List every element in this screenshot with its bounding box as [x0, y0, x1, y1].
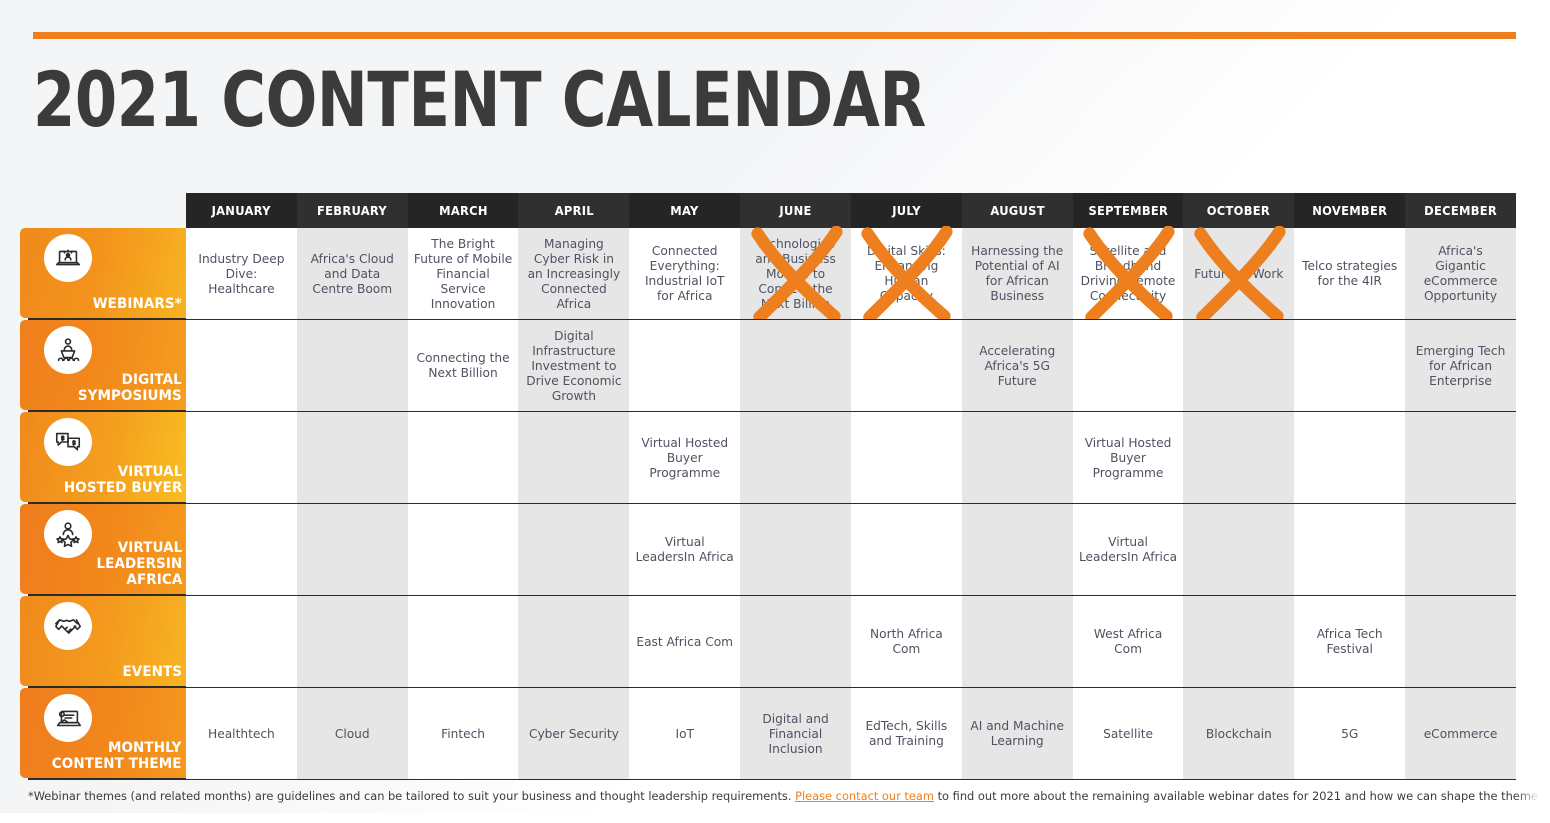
cell-text: Cyber Security — [529, 727, 619, 742]
calendar-cell — [408, 412, 519, 504]
calendar-cell: Managing Cyber Risk in an Increasingly C… — [518, 228, 629, 320]
person-stars-icon — [44, 510, 92, 558]
calendar-cell: Africa's Gigantic eCommerce Opportunity — [1405, 228, 1516, 320]
calendar-body: Industry Deep Dive: HealthcareAfrica's C… — [186, 228, 1516, 780]
calendar-cell: AI and Machine Learning — [962, 688, 1073, 780]
month-header-february: FEBRUARY — [297, 193, 408, 228]
calendar-cell: Connected Everything: Industrial IoT for… — [629, 228, 740, 320]
cell-text: West Africa Com — [1079, 627, 1178, 657]
cell-text: Cloud — [335, 727, 370, 742]
row-label-events[interactable]: EVENTS — [20, 596, 192, 686]
calendar-cell: EdTech, Skills and Training — [851, 688, 962, 780]
page-title: 2021 CONTENT CALENDAR — [33, 58, 926, 142]
calendar-cell: Cyber Security — [518, 688, 629, 780]
month-header-label: JULY — [892, 203, 921, 218]
cell-text: Fintech — [441, 727, 485, 742]
calendar-grid: JANUARYFEBRUARYMARCHAPRILMAYJUNEJULYAUGU… — [186, 193, 1516, 780]
calendar-cell — [297, 504, 408, 596]
calendar-cell — [962, 596, 1073, 688]
month-header-may: MAY — [629, 193, 740, 228]
calendar-cell: Connecting the Next Billion — [408, 320, 519, 412]
month-header-label: SEPTEMBER — [1088, 203, 1168, 218]
calendar-cell — [186, 504, 297, 596]
calendar-cell — [186, 412, 297, 504]
calendar-cell: Accelerating Africa's 5G Future — [962, 320, 1073, 412]
calendar-cell: Emerging Tech for African Enterprise — [1405, 320, 1516, 412]
month-header-july: JULY — [851, 193, 962, 228]
row-label-virtual-hosted-buyer[interactable]: VIRTUAL HOSTED BUYER — [20, 412, 192, 502]
calendar-cell: North Africa Com — [851, 596, 962, 688]
calendar-cell: IoT — [629, 688, 740, 780]
calendar-row: Connecting the Next BillionDigital Infra… — [186, 320, 1516, 412]
calendar-cell: Fintech — [408, 688, 519, 780]
month-header-label: MAY — [671, 203, 699, 218]
handshake-icon — [44, 602, 92, 650]
cell-text: Blockchain — [1206, 727, 1272, 742]
calendar-cell — [518, 504, 629, 596]
calendar-cell — [518, 412, 629, 504]
calendar-cell: Future of Work — [1183, 228, 1294, 320]
cell-text: Virtual LeadersIn Africa — [1079, 535, 1178, 565]
month-header-label: OCTOBER — [1207, 203, 1270, 218]
calendar-cell: West Africa Com — [1073, 596, 1184, 688]
month-header-label: JUNE — [779, 203, 811, 218]
calendar-cell: Virtual LeadersIn Africa — [629, 504, 740, 596]
laptop-content-icon — [44, 694, 92, 742]
cell-text: Future of Work — [1194, 267, 1283, 282]
month-header-june: JUNE — [740, 193, 851, 228]
cell-text: EdTech, Skills and Training — [857, 719, 956, 749]
calendar-cell — [408, 504, 519, 596]
cell-text: Digital Skills: Enhancing Human Capacity — [857, 244, 956, 304]
cell-text: Connecting the Next Billion — [414, 351, 513, 381]
month-header-october: OCTOBER — [1183, 193, 1294, 228]
calendar-cell — [1405, 412, 1516, 504]
calendar-page: 2021 CONTENT CALENDAR WEBINARS*DIGITAL S… — [0, 0, 1550, 823]
month-header-label: MARCH — [439, 203, 488, 218]
calendar-row: East Africa ComNorth Africa ComWest Afri… — [186, 596, 1516, 688]
dollar-speech-bubbles-icon — [44, 418, 92, 466]
cell-text: Virtual LeadersIn Africa — [635, 535, 734, 565]
cell-text: Africa's Cloud and Data Centre Boom — [303, 252, 402, 297]
calendar-cell — [1183, 504, 1294, 596]
row-label-column: WEBINARS*DIGITAL SYMPOSIUMSVIRTUAL HOSTE… — [20, 228, 192, 780]
bottom-margin — [0, 813, 1550, 823]
calendar-cell: Virtual Hosted Buyer Programme — [1073, 412, 1184, 504]
row-label-monthly-content-theme[interactable]: MONTHLY CONTENT THEME — [20, 688, 192, 778]
row-label-digital-symposiums[interactable]: DIGITAL SYMPOSIUMS — [20, 320, 192, 410]
calendar-cell: Digital and Financial Inclusion — [740, 688, 851, 780]
calendar-cell: Cloud — [297, 688, 408, 780]
calendar-cell: Healthtech — [186, 688, 297, 780]
calendar-row: Virtual Hosted Buyer ProgrammeVirtual Ho… — [186, 412, 1516, 504]
calendar-cell — [740, 504, 851, 596]
calendar-cell — [1294, 504, 1405, 596]
calendar-cell — [1405, 596, 1516, 688]
page-edge-fade — [1516, 0, 1550, 823]
calendar-cell: The Bright Future of Mobile Financial Se… — [408, 228, 519, 320]
month-header-november: NOVEMBER — [1294, 193, 1405, 228]
cell-text: Satellite — [1103, 727, 1153, 742]
cell-text: Managing Cyber Risk in an Increasingly C… — [524, 237, 623, 312]
calendar-cell — [740, 320, 851, 412]
cell-text: Emerging Tech for African Enterprise — [1411, 344, 1510, 389]
cell-text: Telco strategies for the 4IR — [1300, 259, 1399, 289]
month-header-september: SEPTEMBER — [1073, 193, 1184, 228]
calendar-cell — [297, 412, 408, 504]
cell-text: Africa Tech Festival — [1300, 627, 1399, 657]
cell-text: Satellite and Broadband Driving Remote C… — [1079, 244, 1178, 304]
calendar-cell: 5G — [1294, 688, 1405, 780]
calendar-cell — [962, 504, 1073, 596]
cell-text: East Africa Com — [636, 635, 733, 650]
calendar-cell — [297, 320, 408, 412]
month-header-label: APRIL — [554, 203, 593, 218]
top-accent-rule — [33, 32, 1516, 39]
contact-our-team-link[interactable]: Please contact our team — [795, 789, 934, 803]
month-header-january: JANUARY — [186, 193, 297, 228]
calendar-cell: Digital Infrastructure Investment to Dri… — [518, 320, 629, 412]
calendar-cell: Telco strategies for the 4IR — [1294, 228, 1405, 320]
footnote-suffix: to find out more about the remaining ava… — [934, 789, 1550, 803]
calendar-cell — [186, 320, 297, 412]
podium-speaker-icon — [44, 326, 92, 374]
cell-text: Industry Deep Dive: Healthcare — [192, 252, 291, 297]
cell-text: Harnessing the Potential of AI for Afric… — [968, 244, 1067, 304]
calendar-cell — [186, 596, 297, 688]
calendar-cell: East Africa Com — [629, 596, 740, 688]
month-header-december: DECEMBER — [1405, 193, 1516, 228]
calendar-cell — [1183, 596, 1294, 688]
calendar-cell — [740, 596, 851, 688]
calendar-cell — [962, 412, 1073, 504]
row-label-webinars[interactable]: WEBINARS* — [20, 228, 192, 318]
calendar-cell — [518, 596, 629, 688]
calendar-cell: Digital Skills: Enhancing Human Capacity — [851, 228, 962, 320]
row-label-text: VIRTUAL LEADERSIN AFRICA — [96, 540, 182, 588]
calendar-cell — [851, 320, 962, 412]
row-label-text: EVENTS — [122, 664, 182, 680]
calendar-cell — [1405, 504, 1516, 596]
cell-text: Africa's Gigantic eCommerce Opportunity — [1411, 244, 1510, 304]
cell-text: Digital and Financial Inclusion — [746, 712, 845, 757]
cell-text: North Africa Com — [857, 627, 956, 657]
calendar-cell — [1183, 320, 1294, 412]
footnote: *Webinar themes (and related months) are… — [28, 789, 1550, 803]
row-divider — [186, 779, 1516, 781]
row-label-text: DIGITAL SYMPOSIUMS — [78, 372, 182, 404]
calendar-cell: Africa's Cloud and Data Centre Boom — [297, 228, 408, 320]
calendar-row: HealthtechCloudFintechCyber SecurityIoTD… — [186, 688, 1516, 780]
cell-text: Healthtech — [208, 727, 275, 742]
laptop-webinar-icon — [44, 234, 92, 282]
row-label-text: VIRTUAL HOSTED BUYER — [64, 464, 182, 496]
calendar-cell — [408, 596, 519, 688]
calendar-cell: Satellite — [1073, 688, 1184, 780]
calendar-cell: Satellite and Broadband Driving Remote C… — [1073, 228, 1184, 320]
calendar-cell — [629, 320, 740, 412]
cell-text: Accelerating Africa's 5G Future — [968, 344, 1067, 389]
month-header-march: MARCH — [408, 193, 519, 228]
month-header-label: NOVEMBER — [1312, 203, 1387, 218]
label-divider — [28, 778, 198, 780]
month-header-row: JANUARYFEBRUARYMARCHAPRILMAYJUNEJULYAUGU… — [186, 193, 1516, 228]
month-header-label: JANUARY — [212, 203, 271, 218]
calendar-cell: Technologies and Business Models to Conn… — [740, 228, 851, 320]
row-label-text: MONTHLY CONTENT THEME — [52, 740, 182, 772]
calendar-row: Virtual LeadersIn AfricaVirtual LeadersI… — [186, 504, 1516, 596]
calendar-cell — [740, 412, 851, 504]
calendar-cell: eCommerce — [1405, 688, 1516, 780]
cell-text: Digital Infrastructure Investment to Dri… — [524, 329, 623, 404]
cell-text: Technologies and Business Models to Conn… — [746, 237, 845, 312]
month-header-label: DECEMBER — [1424, 203, 1497, 218]
cell-text: 5G — [1341, 727, 1358, 742]
month-header-label: FEBRUARY — [317, 203, 387, 218]
cell-text: eCommerce — [1424, 727, 1498, 742]
calendar-cell — [1294, 320, 1405, 412]
cell-text: The Bright Future of Mobile Financial Se… — [414, 237, 513, 312]
calendar-cell: Virtual LeadersIn Africa — [1073, 504, 1184, 596]
calendar-row: Industry Deep Dive: HealthcareAfrica's C… — [186, 228, 1516, 320]
cell-text: AI and Machine Learning — [968, 719, 1067, 749]
calendar-cell: Africa Tech Festival — [1294, 596, 1405, 688]
cell-text: Connected Everything: Industrial IoT for… — [635, 244, 734, 304]
calendar-cell — [1073, 320, 1184, 412]
calendar-cell — [297, 596, 408, 688]
footnote-prefix: *Webinar themes (and related months) are… — [28, 789, 795, 803]
cell-text: Virtual Hosted Buyer Programme — [1079, 436, 1178, 481]
month-header-april: APRIL — [518, 193, 629, 228]
calendar-cell: Harnessing the Potential of AI for Afric… — [962, 228, 1073, 320]
month-header-label: AUGUST — [990, 203, 1044, 218]
row-label-virtual-leadersin-africa[interactable]: VIRTUAL LEADERSIN AFRICA — [20, 504, 192, 594]
cell-text: Virtual Hosted Buyer Programme — [635, 436, 734, 481]
cell-text: IoT — [675, 727, 694, 742]
calendar-cell — [851, 412, 962, 504]
calendar-cell — [1294, 412, 1405, 504]
calendar-cell — [851, 504, 962, 596]
calendar-cell — [1183, 412, 1294, 504]
calendar-cell: Industry Deep Dive: Healthcare — [186, 228, 297, 320]
calendar-cell: Virtual Hosted Buyer Programme — [629, 412, 740, 504]
row-label-text: WEBINARS* — [93, 296, 182, 312]
calendar-cell: Blockchain — [1183, 688, 1294, 780]
month-header-august: AUGUST — [962, 193, 1073, 228]
